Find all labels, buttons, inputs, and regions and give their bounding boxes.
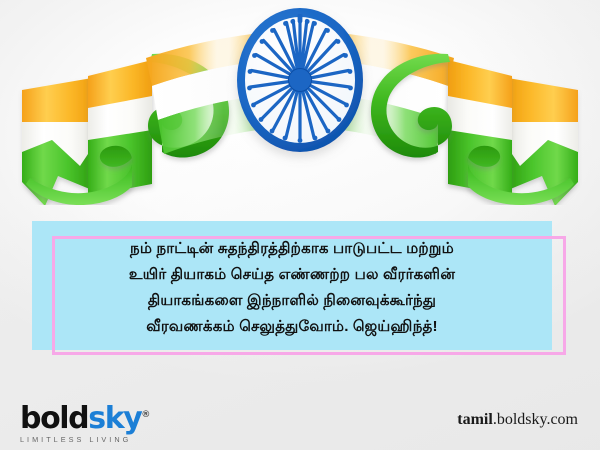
flag-ribbon-graphic	[0, 0, 600, 205]
ribbon-panel-left	[88, 60, 152, 196]
ribbon-panel-right	[448, 60, 512, 196]
logo-tagline: LIMITLESS LIVING	[20, 435, 170, 444]
registered-trademark-icon: ®	[141, 410, 150, 420]
site-url[interactable]: tamil.boldsky.com	[457, 411, 578, 429]
boldsky-logo[interactable]: boldsky® LIMITLESS LIVING	[20, 400, 170, 440]
logo-text-sky: sky	[88, 401, 141, 436]
message-line-1: நம் நாட்டின் சுதந்திரத்திற்காக பாடுபட்ட …	[130, 236, 454, 261]
message-text-block: நம் நாட்டின் சுதந்திரத்திற்காக பாடுபட்ட …	[44, 228, 540, 346]
ashoka-chakra	[237, 8, 363, 152]
poster-canvas: நம் நாட்டின் சுதந்திரத்திற்காக பாடுபட்ட …	[0, 0, 600, 450]
logo-text-bold: bold	[20, 401, 88, 436]
logo-wordmark: boldsky®	[20, 400, 170, 434]
message-line-2: உயிர் தியாகம் செய்த எண்ணற்ற பல வீரர்களின…	[129, 262, 455, 287]
site-url-subdomain: tamil	[457, 411, 493, 428]
message-line-3: தியாகங்களை இந்நாளில் நினைவுக்கூர்ந்து	[148, 288, 436, 313]
site-url-domain: .boldsky.com	[493, 411, 578, 428]
message-line-4: வீரவணக்கம் செலுத்துவோம். ஜெய்ஹிந்த்!	[146, 314, 437, 339]
